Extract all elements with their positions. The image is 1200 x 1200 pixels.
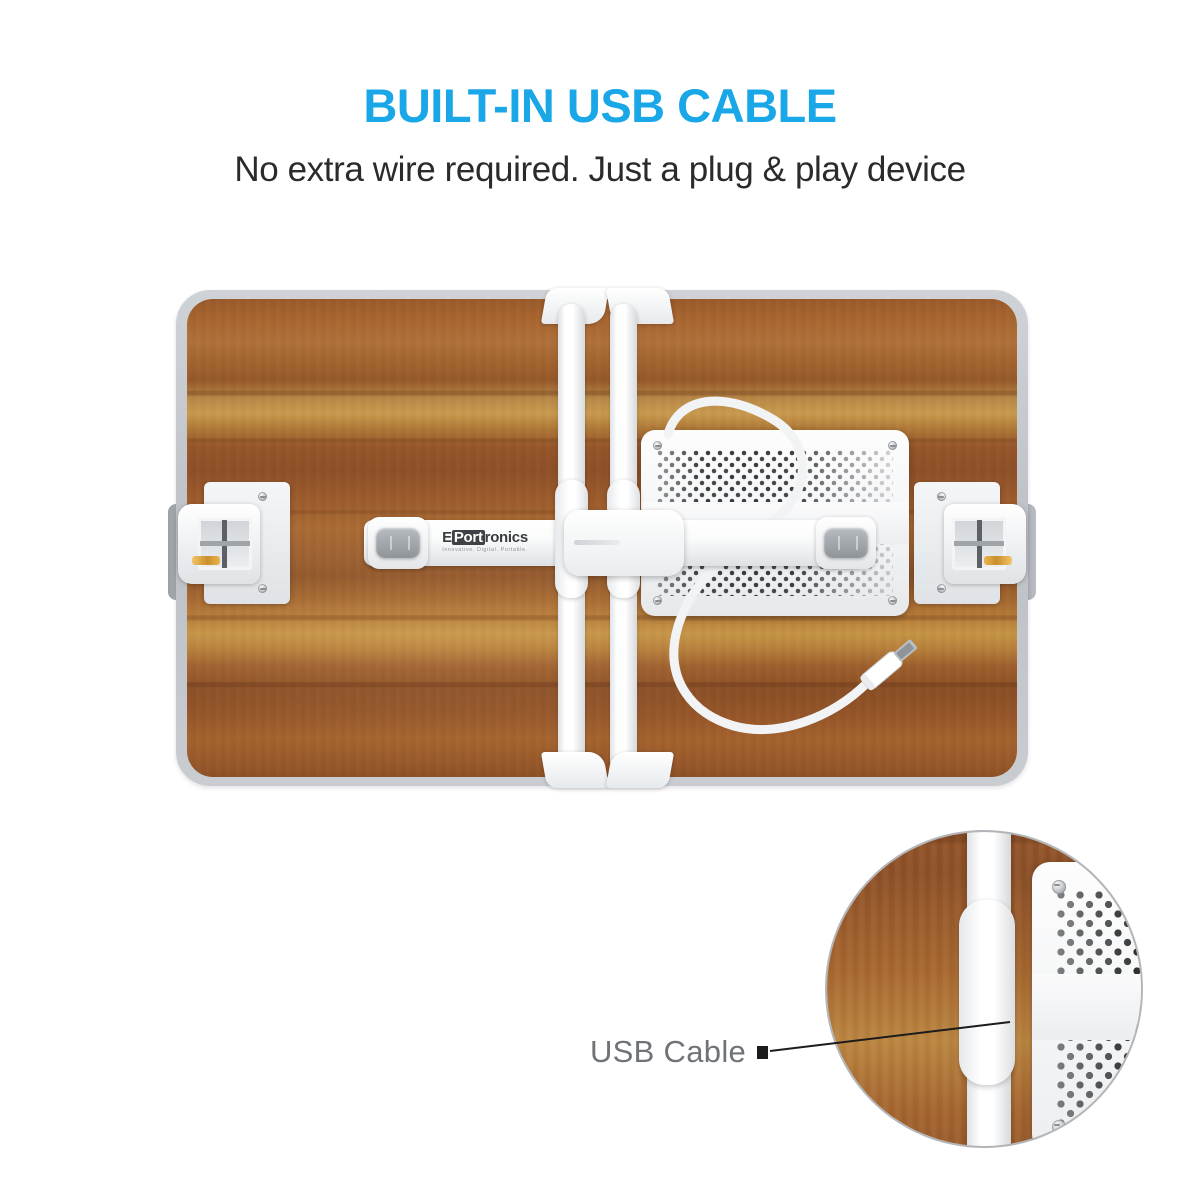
hinge-screw-icon <box>258 492 267 501</box>
crossbar-center-hub <box>564 510 684 576</box>
brand-mark: Port <box>452 530 485 545</box>
inset-leg-collar <box>959 900 1015 1085</box>
callout-marker <box>757 1046 768 1059</box>
callout-label-usb-cable: USB Cable <box>590 1034 746 1070</box>
page-root: BUILT-IN USB CABLE No extra wire require… <box>0 0 1200 1200</box>
adjuster-button-left[interactable] <box>376 528 420 558</box>
hinge-brass-pin <box>984 556 1012 565</box>
product-image: EPortronics Innovative. Digital. Portabl… <box>168 282 1036 794</box>
leg-foot-bottom-right <box>606 752 674 788</box>
brand-logo: EPortronics Innovative. Digital. Portabl… <box>420 530 550 560</box>
inset-content <box>825 830 1143 1148</box>
adjuster-button-right[interactable] <box>824 528 868 558</box>
leg-foot-bottom-left <box>541 752 609 788</box>
vent-screw-icon <box>653 596 662 605</box>
brand-tagline: Innovative. Digital. Portable. <box>420 547 550 553</box>
inset-vent-screw-icon <box>1052 880 1066 894</box>
inset-vent-band <box>1032 974 1143 1040</box>
hub-slot-line <box>574 540 620 545</box>
hinge-screw-icon <box>937 492 946 501</box>
brand-prefix: E <box>442 529 452 546</box>
page-subheadline: No extra wire required. Just a plug & pl… <box>0 150 1200 190</box>
magnified-detail-inset <box>825 830 1143 1148</box>
inset-vent-panel <box>1032 862 1143 1148</box>
hinge-clamp-right <box>914 482 1026 604</box>
hinge-clamp-left <box>178 482 290 604</box>
hinge-screw-icon <box>937 584 946 593</box>
brand-rest: ronics <box>485 529 528 546</box>
vent-screw-icon <box>653 441 662 450</box>
vent-screw-icon <box>888 441 897 450</box>
hinge-screw-icon <box>258 584 267 593</box>
hinge-brass-pin <box>192 556 220 565</box>
page-headline: BUILT-IN USB CABLE <box>0 82 1200 129</box>
vent-screw-icon <box>888 596 897 605</box>
inset-vent-screw-icon <box>1052 1120 1066 1134</box>
